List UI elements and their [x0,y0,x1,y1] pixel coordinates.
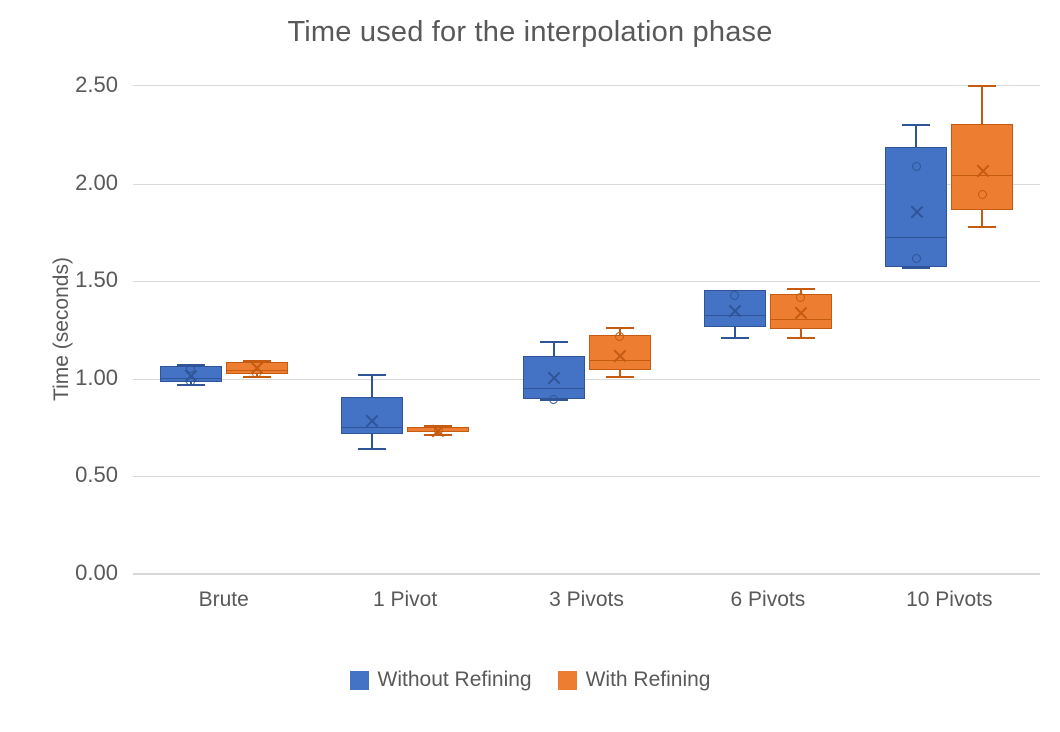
outlier-point [978,190,987,199]
box-plot-box [0,0,1060,732]
whisker-upper [981,85,983,124]
legend-label: Without Refining [378,668,532,692]
legend-swatch-icon [558,671,577,690]
legend-label: With Refining [586,668,711,692]
box-plot-chart: Time used for the interpolation phase Ti… [0,0,1060,732]
whisker-cap-upper [968,85,996,87]
legend-item-without-refining[interactable]: Without Refining [350,668,532,692]
chart-legend: Without RefiningWith Refining [0,668,1060,692]
whisker-cap-lower [968,226,996,228]
legend-item-with-refining[interactable]: With Refining [558,668,711,692]
whisker-lower [981,210,983,226]
legend-swatch-icon [350,671,369,690]
mean-marker [974,163,990,179]
